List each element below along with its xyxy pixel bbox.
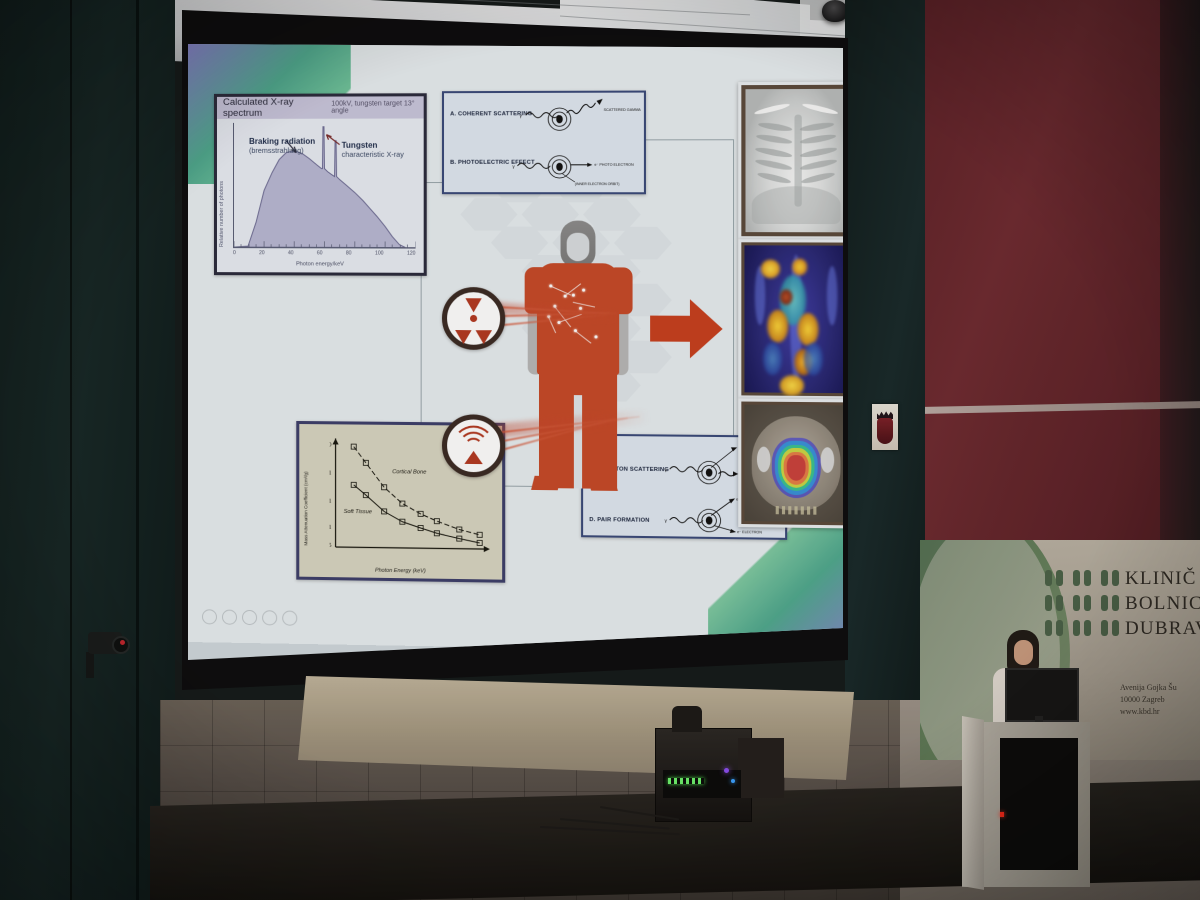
projected-slide: Calculated X-ray spectrum 100kV, tungste… [188,39,858,654]
spectrum-title: Calculated X-ray spectrum [223,97,324,119]
xray-spectrum-chart-card: Calculated X-ray spectrum 100kV, tungste… [214,93,427,276]
speaker-face [1014,640,1033,665]
camera-lens-icon [112,636,130,654]
radiotherapy-dose-plan-image [738,398,854,528]
curve-label-soft-tissue: Soft Tissue [344,509,372,515]
annotation-tungsten: Tungsten characteristic X-ray [342,141,404,160]
banner-line-2: BOLNIC [1125,591,1200,616]
wall-seam [136,0,139,900]
banner-institution-name: KLINIČ BOLNIC DUBRAV [1125,566,1200,641]
svg-text:SCATTERED GAMMA: SCATTERED GAMMA [604,108,642,112]
banner-address-city: 10000 Zagreb [1120,694,1177,706]
spectrum-y-axis-label: Relative number of photons [219,127,225,247]
av-rack-led-blue [724,768,729,773]
connector-line [733,139,734,435]
svg-text:0.01: 0.01 [330,525,332,531]
svg-text:0.005: 0.005 [330,543,332,549]
presenter-monitor [1005,668,1079,722]
podium-front-panel [1000,738,1078,870]
annotation-braking-radiation: Braking radiation (bremsstrahlung) [249,137,315,156]
svg-text:10: 10 [330,442,332,448]
svg-text:γ: γ [665,518,668,523]
av-rack-panel [663,770,741,798]
attenuation-x-axis-label: Photon Energy (keV) [299,567,502,576]
spectrum-x-ticks: 020 4060 80100 120 [233,250,416,257]
curve-label-cortical-bone: Cortical Bone [392,469,426,475]
banner-line-1: KLINIČ [1125,566,1200,591]
projection-screen: Calculated X-ray spectrum 100kV, tungste… [148,0,868,800]
podium-side-panel [962,716,984,890]
lecture-hall-photo: Calculated X-ray spectrum 100kV, tungste… [0,0,1200,900]
banner-address: Avenija Gojka Šu 10000 Zagreb www.kbd.hr [1120,682,1177,718]
chest-xray-image [738,82,854,240]
connector-line [642,139,733,140]
av-rack-led-cyan [731,779,735,783]
wall-far-right-panel [1160,0,1200,560]
camera-record-led [120,640,125,645]
banner-line-3: DUBRAV [1125,616,1200,641]
photon-interactions-top-card: A. COHERENT SCATTERING B. PHOTOELECTRIC … [442,91,646,195]
svg-text:0.1: 0.1 [330,499,332,505]
svg-text:γ: γ [665,467,668,472]
footer-logo-icon [202,609,217,624]
footer-logo-icon [282,611,297,626]
svg-text:(INNER ELECTRON ORBIT): (INNER ELECTRON ORBIT) [575,182,620,186]
wall-crest-emblem [872,404,898,450]
patient-foot-right [588,476,618,491]
svg-text:γ: γ [520,113,523,118]
patient-foot-left [531,476,561,490]
svg-text:e⁻ ELECTRON: e⁻ ELECTRON [737,530,762,534]
pet-ct-fusion-image [738,239,854,399]
patient-leg-gap [574,395,582,488]
wall-seam [70,0,72,900]
banner-address-street: Avenija Gojka Šu [1120,682,1177,694]
attenuation-y-axis-label: Mass Attenuation Coefficient (cm²/g) [303,440,308,546]
podium-indicator-led [1000,812,1004,817]
radiation-trefoil-icon [442,287,505,350]
camera-mount-arm [86,652,94,678]
patient-sleeve-right [612,267,633,314]
wall-red-panel [925,0,1200,560]
av-rack-led-meter [668,778,704,784]
svg-text:1: 1 [330,471,332,477]
spectrum-x-axis-label: Photon energy/keV [217,261,424,268]
spectrum-subtitle: 100kV, tungsten target 13° angle [331,100,423,114]
shield-icon [877,418,893,444]
av-rack-top-unit [672,706,702,732]
footer-logo-icon [222,610,237,625]
av-rack-side-unit [738,738,784,798]
patient-face [567,233,590,261]
svg-text:γ: γ [512,164,515,169]
footer-logo-icon [262,610,277,625]
banner-website: www.kbd.hr [1120,706,1177,718]
footer-logo-icon [242,610,257,625]
interaction-diagram-top: SCATTERED GAMMA γ e⁻ PHOTO ELECTRON γ [444,93,644,193]
svg-text:e⁻ PHOTO ELECTRON: e⁻ PHOTO ELECTRON [594,163,634,167]
spectrum-title-bar: Calculated X-ray spectrum 100kV, tungste… [217,96,424,119]
radio-waves-icon [442,414,505,477]
banner-logo-glyphs [1045,570,1117,638]
screen-surface: Calculated X-ray spectrum 100kV, tungste… [148,0,848,690]
